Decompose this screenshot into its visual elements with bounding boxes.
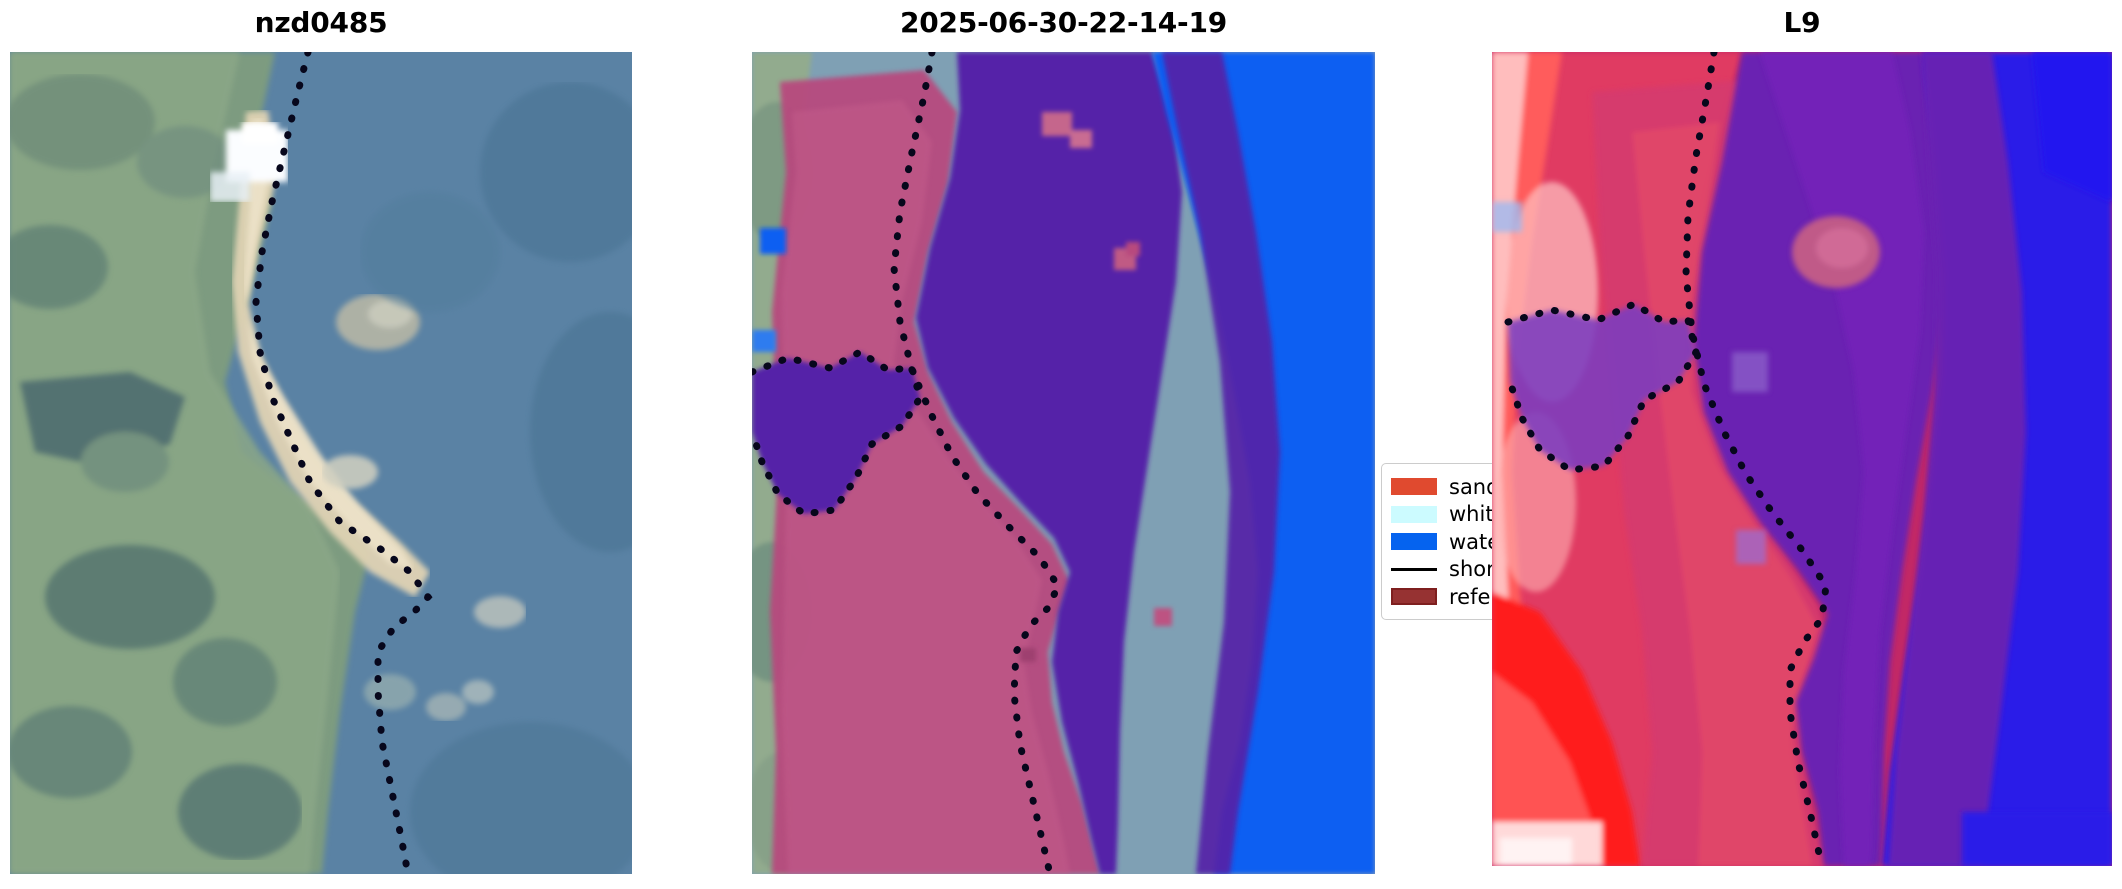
figure-root: sand white-water water shoreline referen… (0, 0, 2122, 889)
white-water-swatch (1391, 506, 1437, 523)
panel-index (1492, 52, 2112, 866)
panel-rgb (10, 52, 632, 874)
classified-overlay-image (752, 52, 1375, 874)
shoreline-line-swatch (1391, 568, 1437, 571)
reference-shoreline-swatch (1391, 588, 1437, 605)
sand-swatch (1391, 478, 1437, 495)
panel-classified (752, 52, 1375, 874)
panel-title-3: L9 (1492, 6, 2112, 40)
panel-title-1: nzd0485 (10, 6, 632, 40)
index-overlay-image (1492, 52, 2112, 866)
rgb-satellite-image (10, 52, 632, 874)
water-swatch (1391, 533, 1437, 550)
panel-title-2: 2025-06-30-22-14-19 (752, 6, 1375, 40)
